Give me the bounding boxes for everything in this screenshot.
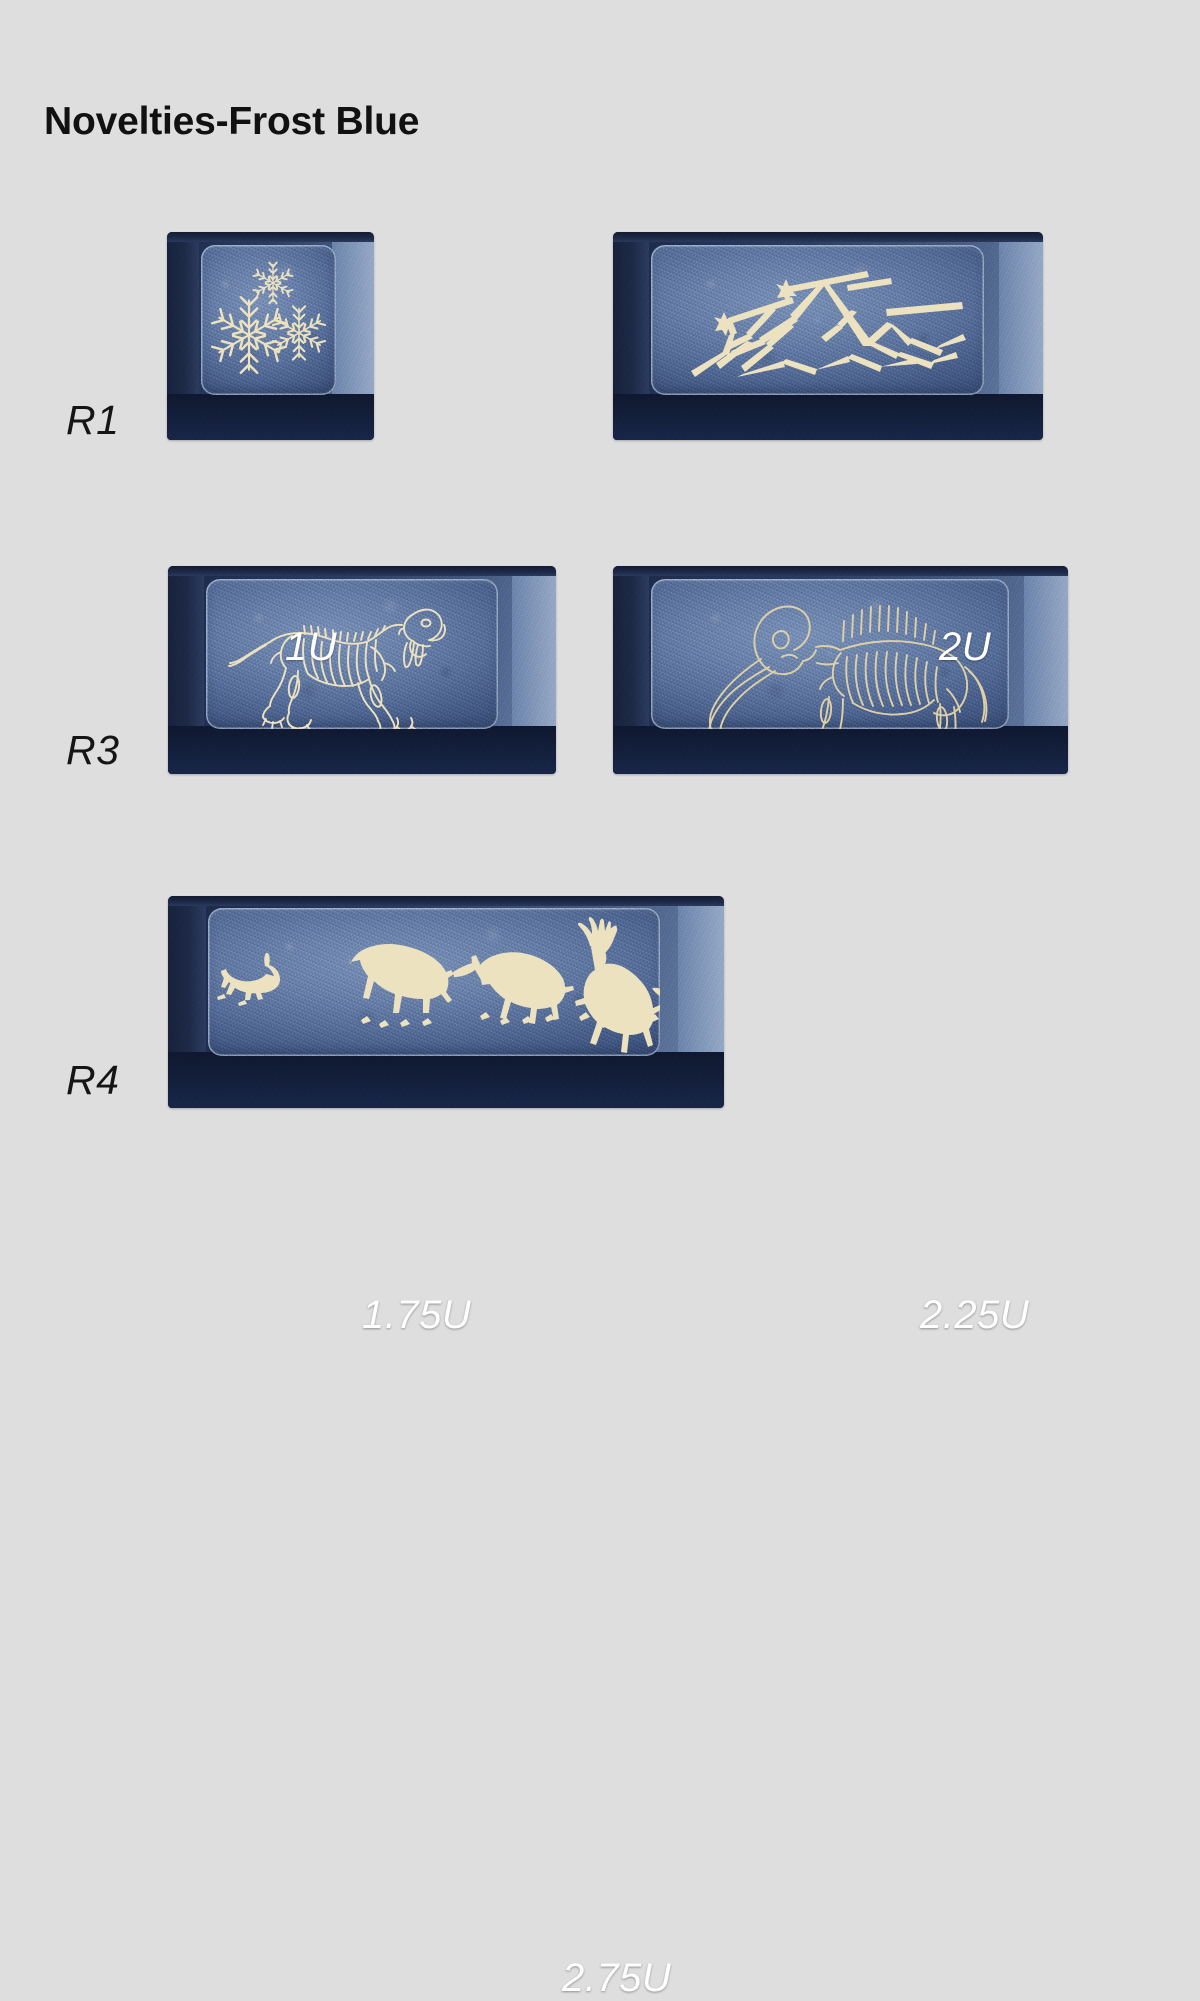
keycap-top-surface xyxy=(208,908,660,1056)
size-label-1-75u: 1.75U xyxy=(362,1293,471,1338)
row-label-r1: R1 xyxy=(66,397,119,444)
bevel-top xyxy=(167,232,374,242)
size-label-2u: 2U xyxy=(939,625,991,670)
row-label-r4: R4 xyxy=(66,1057,119,1104)
bevel-bottom xyxy=(613,726,1068,774)
keycap-top-surface xyxy=(206,579,498,729)
bevel-bottom xyxy=(167,394,374,440)
size-label-1u: 1U xyxy=(285,625,337,670)
keycap-top-surface xyxy=(651,245,984,395)
mountain-range-icon xyxy=(651,245,984,395)
keycap-2u[interactable]: 2U xyxy=(613,232,1043,440)
size-label-2-75u: 2.75U xyxy=(562,1956,671,2001)
bevel-top xyxy=(613,566,1068,576)
size-label-2-25u: 2.25U xyxy=(920,1293,1029,1338)
page-title: Novelties-Frost Blue xyxy=(44,100,419,144)
bevel-bottom xyxy=(168,726,556,774)
animal-herd-icon xyxy=(208,908,660,1056)
sabertooth-skeleton-icon xyxy=(206,579,498,729)
bevel-top xyxy=(613,232,1043,242)
bevel-bottom xyxy=(613,394,1043,440)
bevel-top xyxy=(168,896,724,906)
bevel-top xyxy=(168,566,556,576)
keycap-2-75u[interactable]: 2.75U xyxy=(168,896,724,1108)
bevel-bottom xyxy=(168,1052,724,1108)
row-label-r3: R3 xyxy=(66,727,119,774)
keycap-1u[interactable]: 1U xyxy=(167,232,374,440)
keycap-1-75u[interactable]: 1.75U xyxy=(168,566,556,774)
keycap-top-surface xyxy=(201,245,336,395)
keycap-2-25u[interactable]: 2.25U xyxy=(613,566,1068,774)
snowflakes-icon xyxy=(201,245,336,395)
